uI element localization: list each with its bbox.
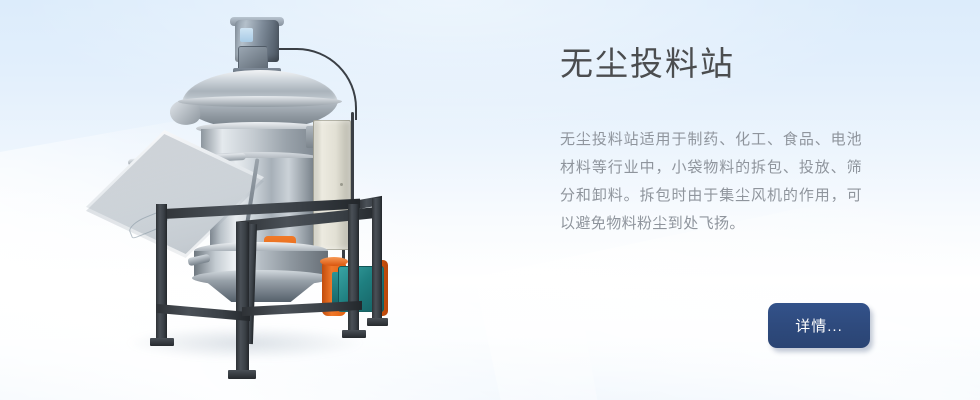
cyclone-dome-rim	[178, 96, 342, 107]
details-button[interactable]: 详情...	[768, 303, 870, 348]
product-image	[70, 8, 390, 388]
frame-leg-middle	[236, 222, 249, 374]
vibration-motor-end-cap	[320, 257, 348, 266]
product-description: 无尘投料站适用于制药、化工、食品、电池材料等行业中，小袋物料的拆包、投放、筛分和…	[560, 126, 862, 238]
frame-foot-front-right	[342, 330, 366, 338]
sieve-discharge-cone	[204, 280, 318, 302]
frame-foot-back-right	[367, 318, 388, 326]
control-cabinet	[313, 120, 351, 250]
product-banner: 无尘投料站 无尘投料站适用于制药、化工、食品、电池材料等行业中，小袋物料的拆包、…	[0, 0, 980, 400]
top-motor-label	[240, 28, 253, 42]
frame-foot-middle	[228, 370, 256, 379]
frame-leg-front-right	[348, 204, 359, 336]
frame-leg-front-left	[156, 204, 167, 342]
frame-foot-front-left	[150, 338, 174, 346]
banner-copy: 无尘投料站 无尘投料站适用于制药、化工、食品、电池材料等行业中，小袋物料的拆包、…	[560, 44, 890, 84]
control-cabinet-screw	[340, 183, 343, 186]
frame-leg-back-right	[372, 198, 382, 322]
page-title: 无尘投料站	[560, 44, 890, 84]
